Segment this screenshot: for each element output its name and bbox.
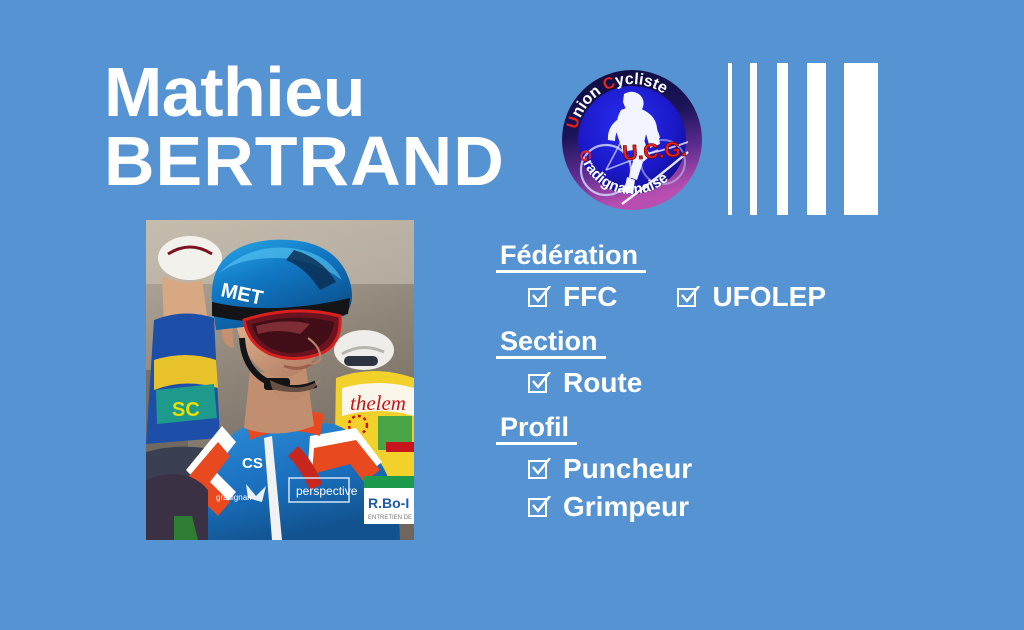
option-route[interactable]: Route [528, 364, 930, 402]
page-title: Mathieu BERTRAND [104, 58, 534, 195]
svg-text:gradignan: gradignan [216, 493, 252, 502]
ballot-box-with-check-icon[interactable] [528, 285, 552, 309]
group-heading-profil: Profil [500, 412, 569, 445]
athlete-first-name: Mathieu [104, 58, 534, 127]
option-ufolep[interactable]: UFOLEP [677, 278, 826, 316]
ballot-box-with-check-icon[interactable] [528, 495, 552, 519]
svg-text:R.Bo-I: R.Bo-I [368, 495, 409, 511]
rider-attributes-panel: Fédération FFC [500, 240, 930, 536]
ballot-box-with-check-icon[interactable] [677, 285, 701, 309]
svg-text:U.C.G.: U.C.G. [622, 138, 688, 165]
vertical-bars-motif [728, 63, 878, 215]
option-label: FFC [563, 278, 617, 316]
option-label: Grimpeur [563, 488, 689, 526]
options-section: Route [500, 364, 930, 402]
athlete-portrait: SC thelem [146, 220, 414, 540]
svg-text:SC: SC [172, 399, 200, 421]
decor-bar-4 [807, 63, 826, 215]
options-profil: Puncheur Grimpeur [500, 450, 930, 526]
svg-text:thelem: thelem [350, 391, 406, 415]
attribute-group-federation: Fédération FFC [500, 240, 930, 316]
option-label: UFOLEP [712, 278, 826, 316]
svg-text:CS: CS [242, 455, 263, 472]
decor-bar-1 [728, 63, 732, 215]
attribute-group-section: Section Route [500, 326, 930, 402]
athlete-last-name: BERTRAND [104, 127, 534, 196]
svg-text:ENTRETIEN DE: ENTRETIEN DE [368, 515, 412, 521]
ballot-box-with-check-icon[interactable] [528, 457, 552, 481]
svg-text:perspective: perspective [296, 484, 358, 498]
option-label: Puncheur [563, 450, 692, 488]
ballot-box-with-check-icon[interactable] [528, 371, 552, 395]
option-label: Route [563, 364, 642, 402]
rider-profile-slide: Mathieu BERTRAND [0, 0, 1024, 630]
option-puncheur[interactable]: Puncheur [528, 450, 930, 488]
group-heading-federation: Fédération [500, 240, 638, 273]
option-ffc[interactable]: FFC [528, 278, 617, 316]
option-grimpeur[interactable]: Grimpeur [528, 488, 930, 526]
options-federation: FFC UFOLEP [500, 278, 930, 316]
attribute-group-profil: Profil Puncheur [500, 412, 930, 526]
decor-bar-5 [844, 63, 878, 215]
ucg-club-logo: Union Cycliste Gradignannaise U.C.G. [558, 58, 706, 218]
group-heading-section: Section [500, 326, 598, 359]
decor-bar-2 [750, 63, 757, 215]
decor-bar-3 [777, 63, 788, 215]
